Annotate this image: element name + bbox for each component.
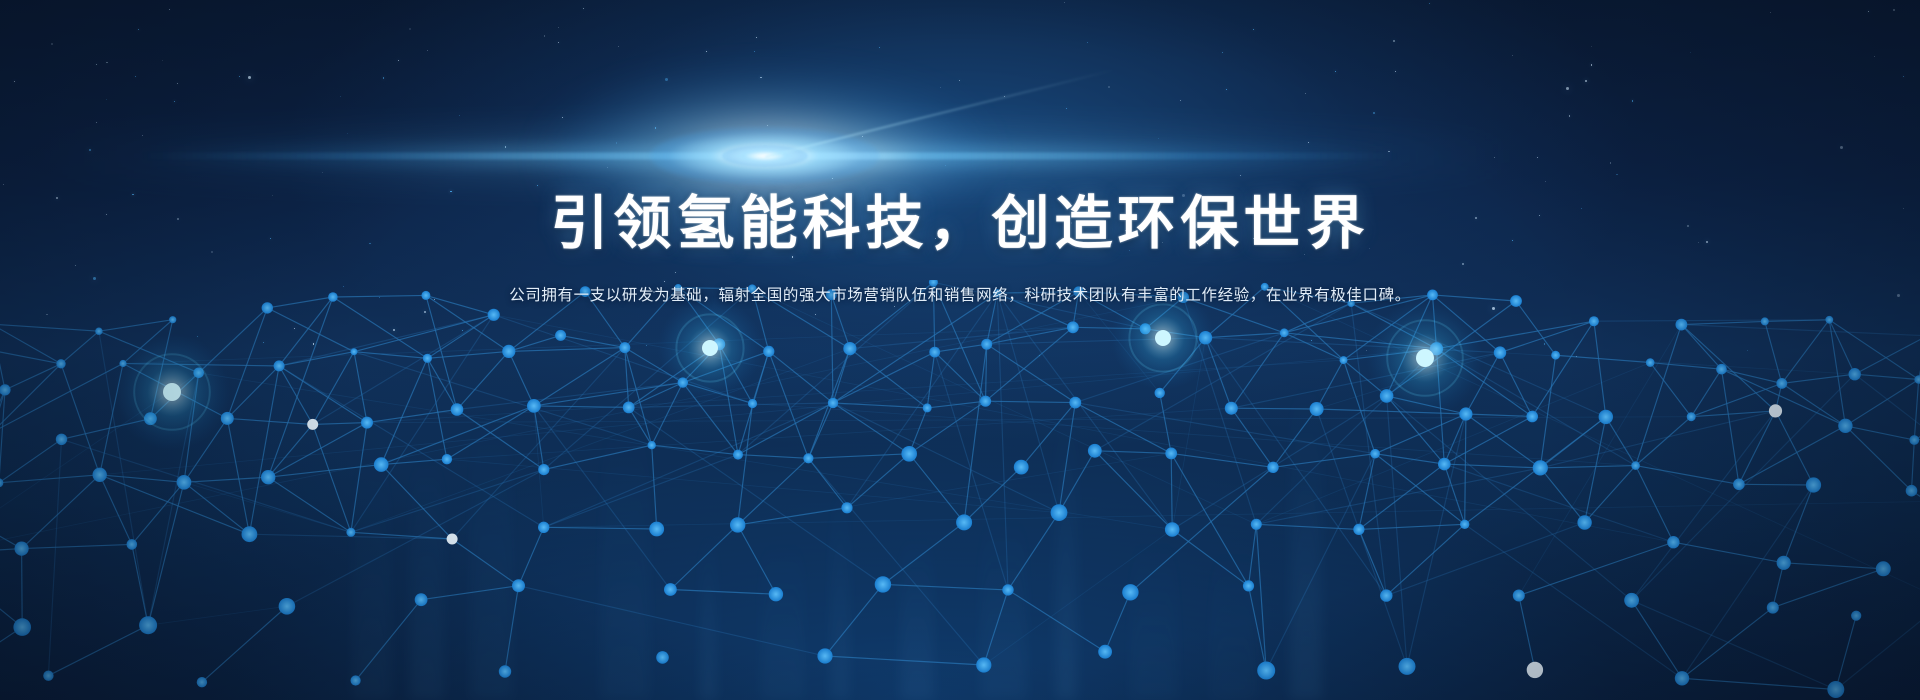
mesh-link: [22, 549, 23, 628]
mesh-link: [1739, 426, 1846, 485]
mesh-node: [279, 598, 296, 615]
mesh-link: [0, 336, 61, 364]
mesh-node: [1399, 658, 1416, 675]
mesh-node: [976, 657, 991, 672]
mesh-link: [738, 455, 808, 459]
mesh-node: [56, 434, 67, 445]
mesh-node: [451, 403, 464, 416]
mesh-link: [0, 364, 61, 432]
hero-banner: 引领氢能科技，创造环保世界 公司拥有一支以研发为基础，辐射全国的强大市场营销队伍…: [0, 0, 1920, 700]
mesh-link: [0, 627, 22, 689]
mesh-node: [1849, 368, 1861, 380]
mesh-node: [981, 339, 992, 350]
mesh-link: [1444, 417, 1532, 465]
mesh-node: [841, 502, 852, 513]
mesh-node: [346, 528, 355, 537]
mesh-node: [242, 526, 258, 542]
mesh-node: [1380, 589, 1392, 601]
mesh-node: [1675, 671, 1689, 685]
mesh-link: [1681, 321, 1764, 324]
mesh-link: [452, 348, 625, 539]
mesh-node: [261, 470, 275, 484]
mesh-node: [733, 450, 743, 460]
mesh-node: [1827, 681, 1844, 698]
mesh-link: [48, 625, 148, 676]
mesh-link: [1105, 592, 1130, 651]
mesh-link: [279, 315, 494, 366]
mesh-link: [1466, 414, 1540, 468]
mesh-node: [442, 454, 452, 464]
mesh-link: [1836, 616, 1856, 690]
mesh-link: [1585, 466, 1636, 523]
mesh-link: [1722, 369, 1739, 484]
mesh-node: [555, 330, 566, 341]
mesh-node: [13, 618, 31, 636]
mesh-node: [502, 345, 515, 358]
network-mesh-graphic: [0, 280, 1920, 700]
mesh-link: [534, 406, 671, 590]
mesh-link: [100, 475, 184, 483]
mesh-node: [1459, 407, 1472, 420]
mesh-link: [1682, 608, 1773, 679]
mesh-link: [61, 331, 99, 364]
mesh-node: [1769, 404, 1782, 417]
glow-node-core: [1416, 349, 1434, 367]
mesh-node: [527, 399, 541, 413]
mesh-node: [1122, 584, 1138, 600]
mesh-link: [351, 470, 544, 533]
mesh-node: [95, 328, 102, 335]
mesh-node: [374, 457, 389, 472]
page-title: 引领氢能科技，创造环保世界: [0, 190, 1920, 258]
mesh-link: [1681, 325, 1775, 411]
mesh-link: [808, 403, 833, 458]
mesh-link: [1359, 454, 1375, 530]
mesh-link: [148, 606, 287, 625]
mesh-node: [1527, 662, 1543, 678]
mesh-link: [1540, 466, 1635, 468]
mesh-link: [1130, 467, 1273, 592]
mesh-node: [1906, 485, 1918, 497]
mesh-node: [828, 398, 838, 408]
mesh-link: [452, 539, 518, 586]
mesh-node: [1494, 346, 1506, 358]
mesh-link: [1519, 596, 1535, 670]
mesh-node: [1310, 402, 1324, 416]
mesh-node: [817, 648, 832, 663]
mesh-link: [0, 475, 100, 483]
mesh-link: [1681, 325, 1721, 370]
mesh-link: [227, 418, 249, 534]
mesh-link: [1914, 380, 1918, 441]
mesh-link: [808, 458, 983, 665]
mesh-link: [1172, 530, 1248, 586]
mesh-link: [184, 477, 268, 482]
mesh-node: [664, 583, 677, 596]
mesh-node: [1353, 524, 1364, 535]
mesh-link: [123, 327, 1073, 363]
mesh-link: [847, 454, 909, 508]
mesh-node: [499, 665, 511, 677]
mesh-link: [1008, 513, 1059, 590]
mesh-node: [1876, 561, 1891, 576]
mesh-link: [534, 406, 544, 470]
mesh-node: [1577, 515, 1591, 529]
mesh-node: [1761, 317, 1769, 325]
mesh-link: [1782, 374, 1855, 383]
mesh-link: [381, 358, 427, 464]
mesh-link: [833, 403, 927, 408]
mesh-node: [538, 522, 549, 533]
mesh-link: [1855, 374, 1919, 379]
mesh-node: [1687, 412, 1696, 421]
mesh-link: [1387, 396, 1407, 667]
mesh-node: [1806, 477, 1821, 492]
mesh-link: [1095, 451, 1172, 530]
mesh-link: [447, 459, 1059, 512]
mesh-link: [1386, 523, 1584, 596]
mesh-node: [351, 675, 361, 685]
mesh-node: [351, 348, 358, 355]
mesh-node: [1776, 378, 1787, 389]
mesh-node: [447, 534, 458, 545]
mesh-link: [279, 366, 544, 527]
mesh-link: [354, 352, 652, 446]
mesh-link: [427, 358, 447, 459]
mesh-link: [1519, 325, 1682, 596]
mesh-link: [1095, 451, 1171, 454]
mesh-node: [1914, 375, 1920, 384]
mesh-link: [738, 525, 776, 594]
mesh-link: [1266, 454, 1375, 671]
mesh-link: [427, 351, 508, 358]
mesh-node: [980, 396, 991, 407]
mesh-link: [227, 308, 267, 419]
mesh-node: [875, 576, 891, 592]
mesh-link: [279, 366, 313, 425]
mesh-link: [0, 336, 5, 390]
mesh-node: [1370, 449, 1380, 459]
mesh-node: [127, 539, 138, 550]
mesh-link: [313, 424, 351, 532]
mesh-node: [1599, 410, 1613, 424]
mesh-link: [268, 477, 351, 532]
mesh-node: [1851, 611, 1861, 621]
mesh-node: [1676, 319, 1688, 331]
mesh-link: [1632, 600, 1836, 689]
mesh-link: [184, 482, 351, 532]
mesh-link: [1540, 468, 1584, 523]
mesh-link: [1465, 524, 1682, 678]
mesh-link: [808, 454, 909, 459]
mesh-node: [1257, 662, 1275, 680]
mesh-link: [1206, 338, 1387, 596]
mesh-link: [544, 527, 657, 529]
mesh-link: [1585, 417, 1606, 523]
mesh-link: [1912, 491, 1920, 553]
mesh-link: [1465, 414, 1466, 524]
mesh-node: [197, 677, 207, 687]
mesh-link: [1444, 464, 1540, 468]
mesh-node: [923, 403, 932, 412]
mesh-link: [509, 351, 534, 406]
mesh-node: [763, 346, 774, 357]
mesh-link: [1784, 485, 1814, 563]
mesh-node: [1825, 316, 1833, 324]
mesh-node: [1551, 351, 1560, 360]
mesh-link: [1691, 369, 1721, 417]
mesh-link: [1784, 563, 1884, 569]
mesh-node: [929, 347, 940, 358]
mesh-link: [0, 439, 61, 483]
mesh-link: [544, 455, 738, 528]
mesh-link: [351, 423, 367, 533]
mesh-link: [313, 352, 354, 425]
mesh-link: [381, 465, 452, 539]
mesh-link: [534, 383, 683, 406]
mesh-link: [132, 544, 148, 625]
mesh-node: [1098, 645, 1112, 659]
mesh-node: [1280, 328, 1289, 337]
mesh-link: [22, 544, 132, 548]
mesh-link: [738, 404, 753, 525]
mesh-link: [313, 423, 367, 425]
mesh-node: [1225, 402, 1238, 415]
mesh-node: [619, 342, 630, 353]
mesh-link: [1231, 408, 1316, 409]
mesh-node: [1460, 520, 1469, 529]
mesh-link: [1765, 321, 1782, 383]
mesh-link: [1171, 453, 1248, 586]
mesh-link: [1171, 453, 1172, 529]
glow-node-core: [702, 340, 718, 356]
mesh-link: [267, 308, 354, 352]
mesh-node: [1526, 411, 1538, 423]
mesh-link: [1845, 380, 1918, 426]
mesh-node: [423, 354, 432, 363]
mesh-node: [274, 360, 285, 371]
mesh-link: [1273, 409, 1317, 467]
mesh-link: [0, 364, 123, 433]
mesh-link: [833, 352, 935, 403]
glow-node-core: [1155, 330, 1171, 346]
mesh-link: [509, 335, 561, 351]
mesh-node: [1165, 522, 1180, 537]
mesh-link: [457, 383, 683, 410]
mesh-node: [748, 399, 757, 408]
mesh-link: [5, 364, 61, 390]
mesh-link: [457, 351, 509, 409]
mesh-link: [0, 324, 99, 331]
mesh-link: [268, 424, 313, 477]
mesh-node: [1631, 461, 1640, 470]
mesh-link: [184, 482, 249, 534]
mesh-node: [1067, 321, 1079, 333]
mesh-link: [279, 352, 354, 366]
mesh-node: [1513, 590, 1525, 602]
mesh-node: [1733, 479, 1745, 491]
mesh-node: [901, 446, 917, 462]
mesh-link: [1500, 353, 1532, 417]
mesh-link: [1855, 374, 1920, 500]
mesh-link: [519, 527, 544, 585]
mesh-link: [1682, 485, 1814, 678]
mesh-node: [1002, 584, 1013, 595]
mesh-link: [1249, 524, 1257, 586]
mesh-node: [1624, 593, 1639, 608]
mesh-link: [1782, 383, 1846, 425]
mesh-link: [0, 324, 5, 390]
mesh-link: [1855, 336, 1920, 374]
mesh-link: [670, 525, 737, 590]
mesh-node: [177, 475, 192, 490]
mesh-link: [964, 344, 987, 522]
mesh-link: [268, 423, 367, 478]
mesh-link: [1773, 569, 1884, 608]
mesh-node: [169, 316, 176, 323]
mesh-link: [268, 297, 333, 477]
mesh-node: [1667, 536, 1679, 548]
mesh-node: [623, 402, 635, 414]
mesh-node: [1716, 364, 1727, 375]
mesh-node: [769, 587, 783, 601]
mesh-node: [1777, 556, 1791, 570]
mesh-node: [1646, 358, 1655, 367]
mesh-node: [649, 522, 664, 537]
mesh-link: [421, 586, 518, 600]
mesh-node: [648, 441, 656, 449]
mesh-node: [956, 514, 972, 530]
mesh-node: [1267, 462, 1278, 473]
mesh-link: [984, 590, 1008, 665]
mesh-link: [1500, 321, 1594, 352]
mesh-link: [1632, 600, 1682, 678]
mesh-link: [1444, 464, 1673, 542]
mesh-node: [843, 342, 856, 355]
mesh-node: [1340, 356, 1348, 364]
mesh-link: [1519, 542, 1674, 595]
mesh-node: [512, 579, 525, 592]
mesh-link: [1912, 440, 1915, 491]
mesh-node: [1251, 519, 1262, 530]
mesh-link: [738, 403, 833, 455]
mesh-link: [1256, 468, 1540, 524]
mesh-node: [656, 651, 669, 664]
mesh-node: [488, 309, 500, 321]
mesh-link: [1059, 451, 1095, 513]
mesh-node: [1909, 435, 1919, 445]
mesh-link: [833, 403, 909, 454]
mesh-link: [1650, 363, 1691, 417]
mesh-link: [48, 439, 61, 675]
mesh-node: [15, 542, 29, 556]
mesh-node: [43, 671, 53, 681]
mesh-link: [268, 465, 381, 478]
mesh-link: [1265, 287, 1920, 636]
mesh-node: [139, 616, 157, 634]
mesh-node: [1767, 602, 1779, 614]
mesh-link: [986, 401, 1076, 402]
mesh-link: [351, 349, 850, 533]
mesh-link: [997, 293, 1059, 512]
mesh-link: [1739, 484, 1814, 485]
mesh-node: [93, 468, 107, 482]
mesh-link: [22, 475, 100, 549]
mesh-node: [1533, 460, 1548, 475]
mesh-node: [1243, 580, 1254, 591]
mesh-link: [544, 445, 652, 469]
mesh-link: [847, 293, 997, 508]
mesh-link: [1845, 426, 1911, 491]
mesh-link: [1231, 333, 1284, 408]
mesh-link: [61, 364, 100, 475]
mesh-link: [670, 590, 776, 595]
mesh-node: [1069, 397, 1081, 409]
mesh-node: [415, 593, 428, 606]
mesh-link: [883, 522, 964, 584]
mesh-link: [505, 586, 519, 672]
mesh-node: [1051, 504, 1068, 521]
mesh-node: [0, 384, 11, 395]
page-subtitle: 公司拥有一支以研发为基础，辐射全国的强大市场营销队伍和销售网络，科研技术团队有丰…: [0, 284, 1920, 309]
mesh-link: [202, 606, 287, 682]
mesh-link: [0, 554, 22, 627]
mesh-link: [1008, 590, 1105, 652]
mesh-node: [1589, 316, 1599, 326]
mesh-link: [1594, 321, 1606, 417]
mesh-link: [1606, 417, 1636, 466]
mesh-node: [1438, 458, 1451, 471]
mesh-node: [1088, 444, 1102, 458]
mesh-link: [0, 390, 5, 554]
mesh-link: [1722, 369, 1782, 383]
mesh-node: [361, 417, 373, 429]
mesh-link: [984, 530, 1172, 666]
mesh-link: [1284, 333, 1343, 360]
mesh-node: [1014, 460, 1029, 475]
mesh-link: [825, 656, 984, 665]
mesh-node: [803, 453, 813, 463]
mesh-link: [356, 600, 422, 681]
mesh-node: [307, 419, 318, 430]
mesh-link: [825, 584, 883, 656]
mesh-link: [354, 352, 367, 423]
mesh-link: [883, 584, 1008, 590]
mesh-node: [56, 359, 65, 368]
mesh-link: [831, 295, 833, 403]
mesh-link: [1845, 426, 1914, 440]
mesh-link: [652, 383, 683, 446]
mesh-link: [367, 410, 457, 423]
mesh-node: [730, 517, 745, 532]
mesh-link: [1681, 325, 1920, 336]
mesh-link: [1256, 524, 1359, 529]
hero-content: 引领氢能科技，创造环保世界 公司拥有一支以研发为基础，辐射全国的强大市场营销队伍…: [0, 190, 1920, 309]
mesh-link: [0, 495, 22, 548]
mesh-node: [1838, 419, 1852, 433]
mesh-link: [1359, 524, 1465, 529]
mesh-node: [538, 464, 549, 475]
glow-node-core: [163, 383, 181, 401]
mesh-node: [1165, 448, 1177, 460]
